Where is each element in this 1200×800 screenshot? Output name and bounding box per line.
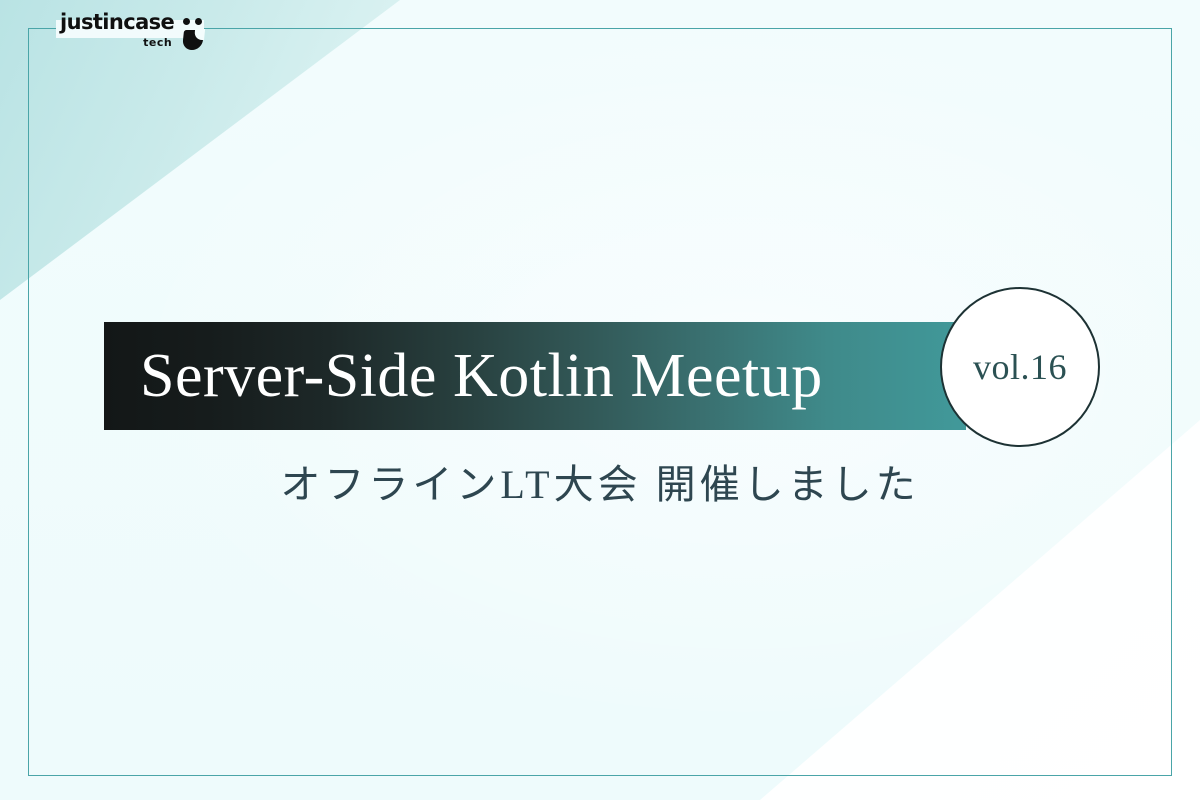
brand-logo: justincase tech	[60, 12, 208, 52]
slide-canvas: justincase tech Server-Side Kotlin Meetu…	[0, 0, 1200, 800]
smiley-left-eye-icon	[183, 18, 190, 25]
page-title: Server-Side Kotlin Meetup	[140, 322, 940, 430]
page-subtitle: オフラインLT大会 開催しました	[0, 452, 1200, 510]
brand-logo-text: justincase tech	[60, 12, 174, 48]
brand-logo-wordmark: justincase	[60, 12, 174, 33]
smiley-face-icon	[182, 12, 208, 52]
volume-badge: vol.16	[940, 287, 1100, 447]
smiley-right-eye-icon	[195, 18, 202, 25]
brand-logo-subword: tech	[143, 37, 172, 48]
smiley-mouth-icon	[182, 30, 204, 50]
volume-badge-label: vol.16	[973, 346, 1067, 388]
